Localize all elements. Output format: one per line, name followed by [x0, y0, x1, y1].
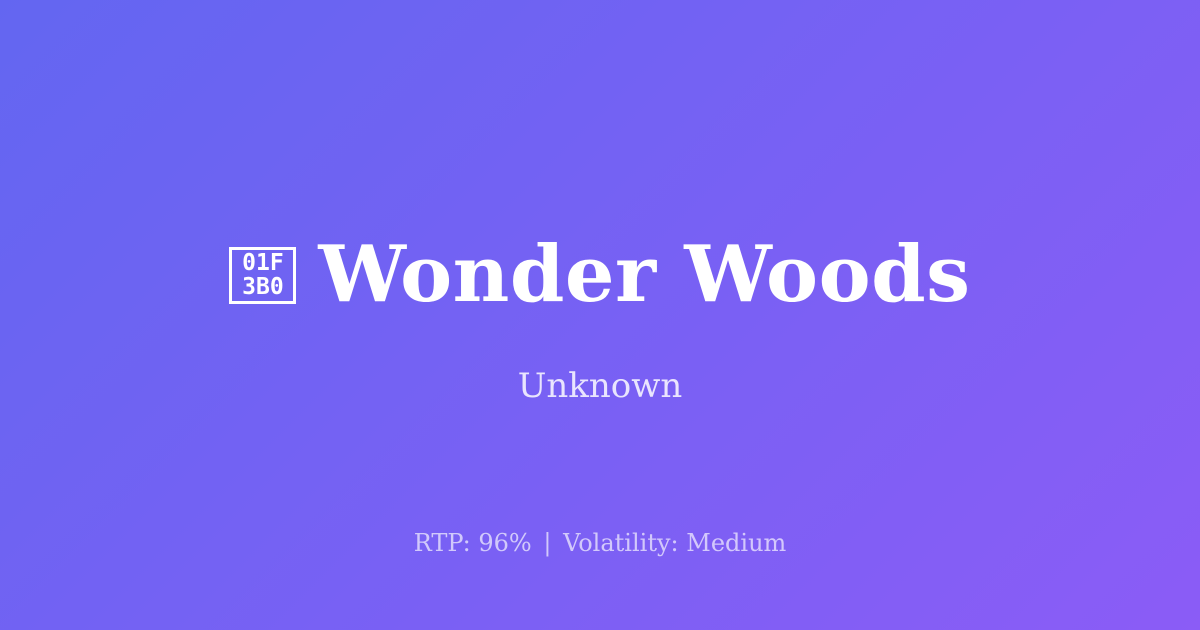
card-subtitle: Unknown: [0, 362, 1200, 410]
meta-separator: |: [539, 529, 555, 557]
volatility-value: Medium: [686, 529, 786, 557]
og-share-card: 01F 3B0 Wonder Woods Unknown RTP: 96% | …: [0, 0, 1200, 630]
slot-machine-emoji-icon: 01F 3B0: [229, 247, 296, 304]
volatility-label: Volatility:: [563, 529, 679, 557]
tofu-hex-top: 01F: [242, 251, 284, 275]
rtp-label: RTP:: [414, 529, 471, 557]
card-meta-line: RTP: 96% | Volatility: Medium: [0, 526, 1200, 560]
tofu-hex-bottom: 3B0: [242, 275, 284, 299]
page-title: Wonder Woods: [318, 232, 970, 318]
rtp-value: 96%: [478, 529, 531, 557]
hero-row: 01F 3B0 Wonder Woods: [0, 232, 1200, 318]
